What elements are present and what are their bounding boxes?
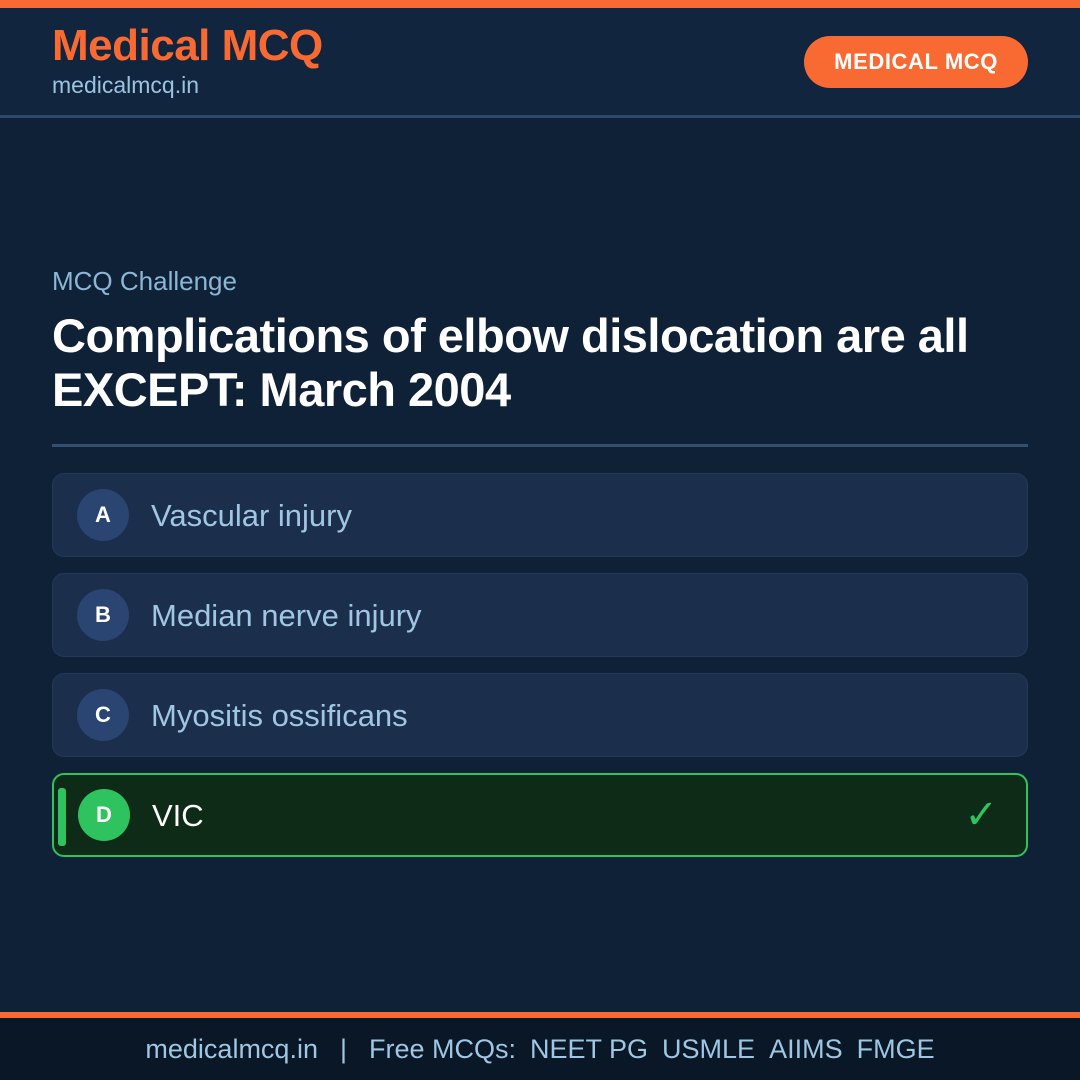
brand-title: Medical MCQ (52, 23, 323, 69)
option-badge-a: A (77, 489, 129, 541)
option-row-a[interactable]: A Vascular injury (52, 473, 1028, 557)
option-text-c: Myositis ossificans (151, 700, 408, 731)
footer-exam-fmge[interactable]: FMGE (857, 1034, 935, 1065)
mcq-card: Medical MCQ medicalmcq.in MEDICAL MCQ MC… (0, 0, 1080, 1080)
option-badge-d: D (78, 789, 130, 841)
correct-accent-bar (58, 788, 66, 846)
footer-separator: | (340, 1034, 347, 1065)
option-badge-c: C (77, 689, 129, 741)
options-list: A Vascular injury B Median nerve injury … (52, 473, 1028, 857)
brand-block: Medical MCQ medicalmcq.in (52, 23, 323, 100)
footer-label: Free MCQs: (369, 1034, 516, 1065)
kicker-label: MCQ Challenge (52, 266, 1028, 297)
footer-exam-usmle[interactable]: USMLE (662, 1034, 755, 1065)
option-text-b: Median nerve injury (151, 600, 422, 631)
footer-exam-neetpg[interactable]: NEET PG (530, 1034, 648, 1065)
option-row-d[interactable]: D VIC ✓ (52, 773, 1028, 857)
question-divider (52, 444, 1028, 447)
option-badge-b: B (77, 589, 129, 641)
option-text-a: Vascular injury (151, 500, 352, 531)
option-text-d: VIC (152, 800, 204, 831)
footer-site-link[interactable]: medicalmcq.in (145, 1034, 318, 1065)
option-row-b[interactable]: B Median nerve injury (52, 573, 1028, 657)
question-text: Complications of elbow dislocation are a… (52, 309, 1028, 416)
header-badge: MEDICAL MCQ (804, 36, 1028, 88)
check-icon-d: ✓ (964, 795, 998, 835)
footer-exam-aiims[interactable]: AIIMS (769, 1034, 843, 1065)
header-bar: Medical MCQ medicalmcq.in MEDICAL MCQ (0, 8, 1080, 118)
option-row-c[interactable]: C Myositis ossificans (52, 673, 1028, 757)
footer-bar: medicalmcq.in | Free MCQs: NEET PG USMLE… (0, 1012, 1080, 1080)
footer-text: medicalmcq.in | Free MCQs: NEET PG USMLE… (145, 1034, 934, 1065)
top-accent-rule (0, 0, 1080, 8)
brand-subtitle: medicalmcq.in (52, 71, 323, 100)
main-content: MCQ Challenge Complications of elbow dis… (0, 118, 1080, 1012)
